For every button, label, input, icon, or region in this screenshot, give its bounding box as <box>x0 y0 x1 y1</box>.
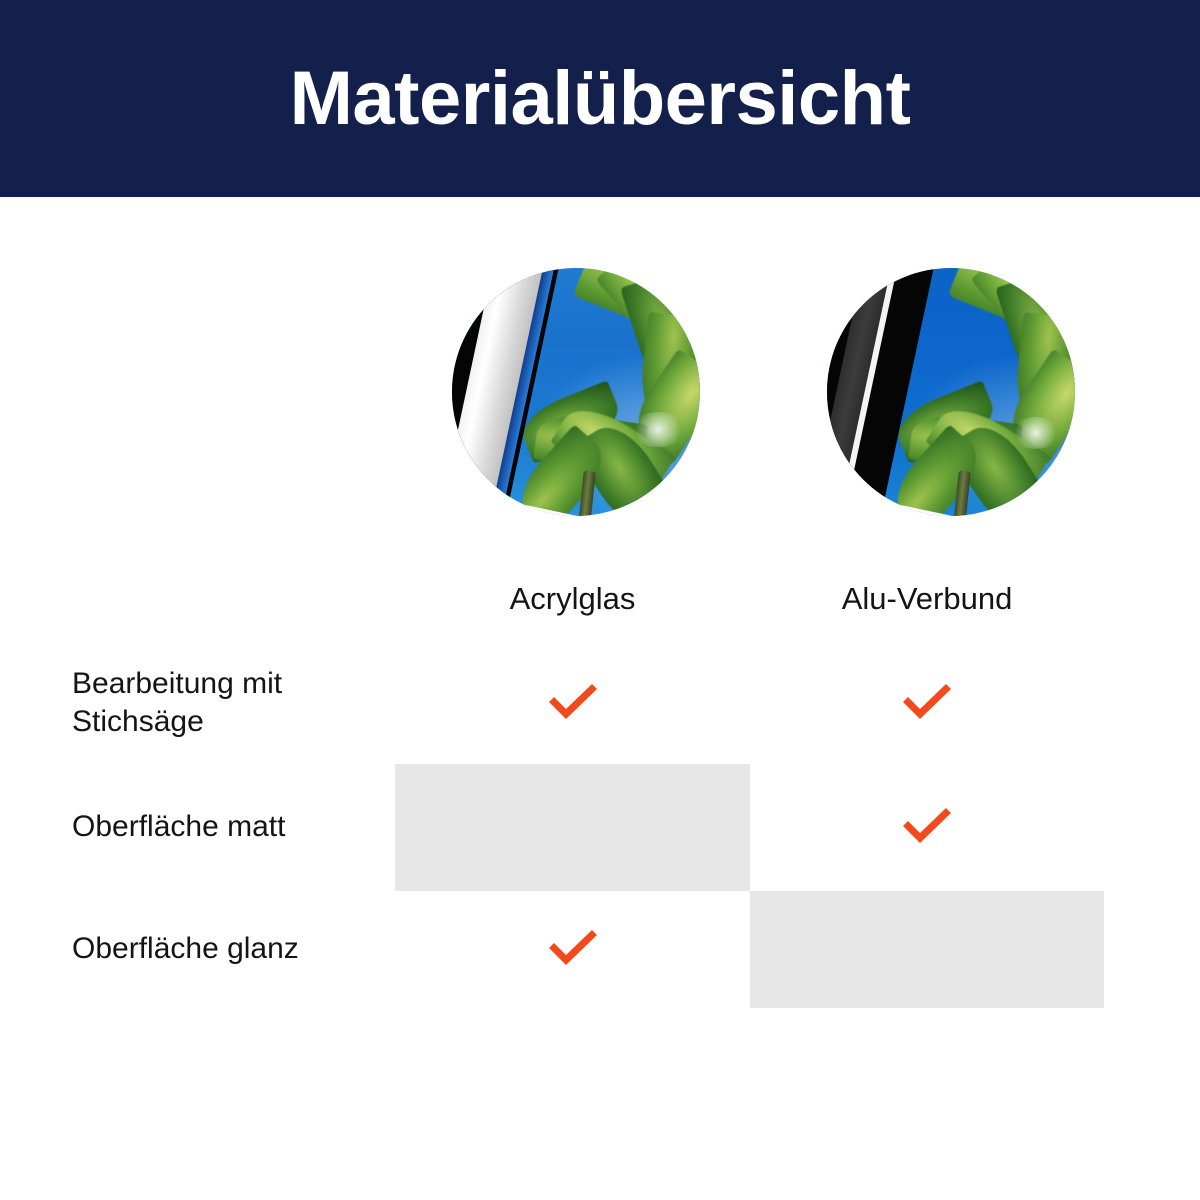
material-comparison-table: Acrylglas Alu-Verbund Bearbeitung mit St… <box>72 555 1104 1010</box>
check-icon <box>544 679 602 723</box>
row-label-bearbeitung-mit-stichsaege: Bearbeitung mit Stichsäge <box>72 642 395 764</box>
cell-oberflaeche-glanz-acrylglas <box>395 891 750 1008</box>
cloud <box>1011 417 1061 449</box>
table-row: Bearbeitung mit Stichsäge <box>72 642 1104 764</box>
page-title: Materialübersicht <box>290 61 911 137</box>
cell-bearbeitung-alu-verbund <box>750 642 1104 764</box>
compare-table: Acrylglas Alu-Verbund Bearbeitung mit St… <box>72 555 1104 1008</box>
table-header-row: Acrylglas Alu-Verbund <box>72 555 1104 642</box>
row-label-oberflaeche-glanz: Oberfläche glanz <box>72 891 395 1008</box>
row-label-line2: Stichsäge <box>72 703 395 741</box>
sample-image-acrylglas <box>452 268 700 516</box>
sample-image-alu-verbund <box>827 268 1075 516</box>
table-corner-cell <box>72 555 395 642</box>
table-row: Oberfläche matt <box>72 764 1104 891</box>
cell-oberflaeche-glanz-alu-verbund <box>750 891 1104 1008</box>
material-sample-row <box>0 268 1200 516</box>
row-label-line1: Bearbeitung mit <box>72 665 395 703</box>
check-icon <box>898 803 956 847</box>
column-header-acrylglas: Acrylglas <box>395 555 750 642</box>
row-label-line1: Oberfläche glanz <box>72 930 395 968</box>
table-header: Acrylglas Alu-Verbund <box>72 555 1104 642</box>
row-label-oberflaeche-matt: Oberfläche matt <box>72 764 395 891</box>
alu-verbund-artwork <box>827 268 1075 516</box>
table-row: Oberfläche glanz <box>72 891 1104 1008</box>
row-label-line1: Oberfläche matt <box>72 808 395 846</box>
cloud <box>631 412 686 447</box>
header-band: Materialübersicht <box>0 0 1200 197</box>
acrylglas-artwork <box>452 268 700 516</box>
table-body: Bearbeitung mit Stichsäge <box>72 642 1104 1008</box>
cell-bearbeitung-acrylglas <box>395 642 750 764</box>
cell-oberflaeche-matt-alu-verbund <box>750 764 1104 891</box>
cell-oberflaeche-matt-acrylglas <box>395 764 750 891</box>
check-icon <box>544 925 602 969</box>
check-icon <box>898 679 956 723</box>
column-header-alu-verbund: Alu-Verbund <box>750 555 1104 642</box>
